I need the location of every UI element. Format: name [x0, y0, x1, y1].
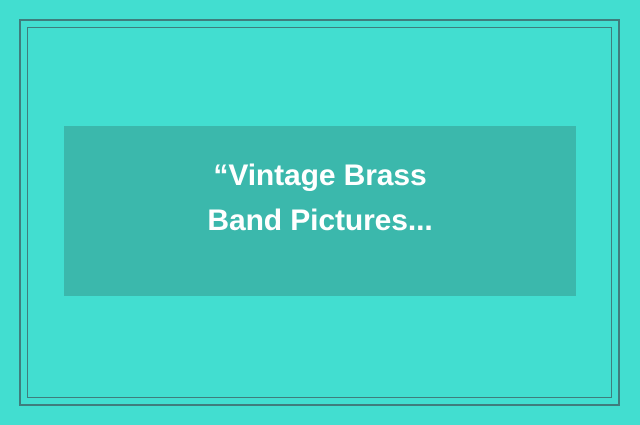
quote-panel: “Vintage Brass Band Pictures...: [64, 126, 576, 296]
quote-text: “Vintage Brass Band Pictures...: [64, 126, 576, 243]
quote-card: “Vintage Brass Band Pictures...: [0, 0, 640, 425]
